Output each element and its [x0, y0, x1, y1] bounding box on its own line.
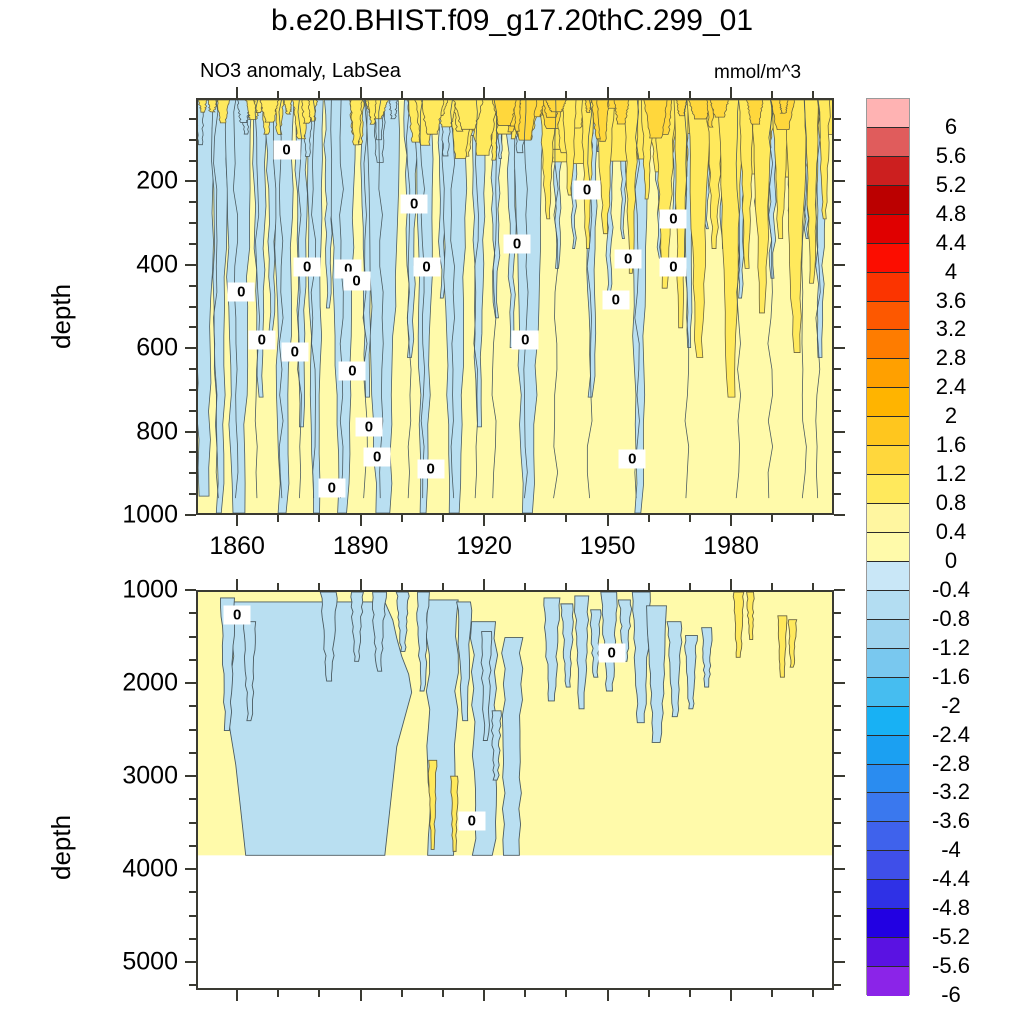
x-axis-tick-minor	[401, 583, 403, 590]
x-axis-tick-major	[483, 579, 485, 590]
colorbar-tick-label: -2.4	[912, 722, 990, 748]
x-axis-tick-major	[360, 87, 362, 98]
colorbar-tick-label: 0	[912, 548, 990, 574]
y-axis-tick-minor	[189, 891, 196, 893]
colorbar-cell	[867, 504, 909, 533]
x-axis-tick-minor	[277, 91, 279, 98]
colorbar-cell	[867, 157, 909, 186]
x-axis-tick-minor	[689, 583, 691, 590]
y-axis-tick-label: 3000	[86, 762, 178, 791]
y-axis-tick-minor	[834, 472, 841, 474]
colorbar-cell	[867, 707, 909, 736]
y-axis-tick-minor	[834, 389, 841, 391]
x-axis-tick-major	[360, 990, 362, 1001]
x-axis-tick-minor	[401, 91, 403, 98]
colorbar-tick-label: -1.2	[912, 635, 990, 661]
y-axis-tick-label: 600	[86, 334, 178, 363]
colorbar-cell	[867, 938, 909, 967]
colorbar-cell	[867, 678, 909, 707]
colorbar-cell	[867, 591, 909, 620]
y-axis-tick-minor	[834, 984, 841, 986]
y-axis-tick-minor	[189, 636, 196, 638]
y-axis-tick-major	[185, 347, 196, 349]
y-axis-tick-major	[185, 431, 196, 433]
y-axis-tick-minor	[189, 118, 196, 120]
y-axis-tick-minor	[834, 326, 841, 328]
y-axis-tick-minor	[834, 118, 841, 120]
y-axis-tick-minor	[834, 410, 841, 412]
x-axis-tick-minor	[565, 990, 567, 997]
y-axis-tick-minor	[189, 729, 196, 731]
y-axis-tick-minor	[189, 984, 196, 986]
x-axis-tick-major	[607, 990, 609, 1001]
y-axis-tick-minor	[834, 636, 841, 638]
x-axis-tick-major	[483, 515, 485, 526]
contour-label: 0	[512, 330, 539, 349]
y-axis-tick-label: 2000	[86, 669, 178, 698]
colorbar-tick-label: 4.8	[912, 201, 990, 227]
y-axis-tick-label: 800	[86, 417, 178, 446]
colorbar-cell	[867, 128, 909, 157]
x-axis-tick-label: 1920	[424, 532, 544, 561]
x-axis-tick-minor	[812, 990, 814, 997]
y-axis-tick-minor	[834, 201, 841, 203]
x-axis-tick-minor	[771, 515, 773, 522]
y-axis-tick-minor	[189, 845, 196, 847]
contour-label: 0	[602, 291, 629, 310]
colorbar-cell	[867, 330, 909, 359]
colorbar-tick-label: -0.4	[912, 577, 990, 603]
contour-label: 0	[619, 449, 646, 468]
y-axis-tick-minor	[189, 705, 196, 707]
x-axis-tick-minor	[442, 515, 444, 522]
colorbar-tick-label: 1.6	[912, 432, 990, 458]
contour-label: 0	[224, 606, 251, 625]
y-axis-tick-major	[185, 775, 196, 777]
contour-label: 0	[598, 644, 625, 663]
y-axis-tick-major	[185, 961, 196, 963]
y-axis-tick-minor	[189, 368, 196, 370]
y-axis-tick-minor	[834, 222, 841, 224]
x-axis-tick-major	[730, 87, 732, 98]
colorbar-cell	[867, 475, 909, 504]
y-axis-tick-minor	[834, 752, 841, 754]
colorbar-tick-label: 5.2	[912, 172, 990, 198]
contour-label: 0	[504, 234, 531, 253]
x-axis-tick-minor	[318, 91, 320, 98]
x-axis-tick-minor	[318, 583, 320, 590]
y-axis-tick-label: 200	[86, 167, 178, 196]
colorbar-tick-label: 2	[912, 403, 990, 429]
x-axis-tick-major	[360, 515, 362, 526]
colorbar-cell	[867, 417, 909, 446]
y-axis-tick-minor	[834, 845, 841, 847]
y-axis-tick-minor	[834, 243, 841, 245]
y-axis-tick-minor	[189, 139, 196, 141]
colorbar-cell	[867, 765, 909, 794]
contour-label: 0	[339, 362, 366, 381]
x-axis-tick-label: 1860	[177, 532, 297, 561]
x-axis-tick-minor	[812, 91, 814, 98]
colorbar-cell	[867, 99, 909, 128]
colorbar-tick-label: -4.8	[912, 895, 990, 921]
colorbar-cell	[867, 302, 909, 331]
colorbar-tick-label: -4.4	[912, 866, 990, 892]
colorbar-tick-label: 4.4	[912, 230, 990, 256]
colorbar-cell	[867, 967, 909, 996]
y-axis-tick-major	[185, 868, 196, 870]
contour-label: 0	[318, 478, 345, 497]
y-axis-tick-major	[185, 682, 196, 684]
colorbar-tick-label: -2	[912, 693, 990, 719]
y-axis-tick-minor	[189, 410, 196, 412]
contour-label: 0	[574, 180, 601, 199]
x-axis-tick-minor	[277, 990, 279, 997]
y-axis-tick-minor	[189, 798, 196, 800]
x-axis-tick-major	[483, 990, 485, 1001]
colorbar-tick-label: 3.2	[912, 316, 990, 342]
y-axis-tick-minor	[189, 326, 196, 328]
colorbar-cell	[867, 793, 909, 822]
colorbar-tick-label: 6	[912, 114, 990, 140]
plot-units-label: mmol/m^3	[714, 62, 801, 84]
x-axis-tick-major	[236, 87, 238, 98]
y-axis-tick-minor	[834, 659, 841, 661]
x-axis-tick-minor	[277, 583, 279, 590]
colorbar-tick-label: 2.8	[912, 345, 990, 371]
x-axis-tick-label: 1950	[548, 532, 668, 561]
colorbar-cell	[867, 909, 909, 938]
y-axis-tick-minor	[834, 285, 841, 287]
contour-label: 0	[355, 418, 382, 437]
x-axis-tick-minor	[689, 990, 691, 997]
x-axis-tick-minor	[277, 515, 279, 522]
y-axis-tick-minor	[189, 915, 196, 917]
y-axis-tick-major	[834, 431, 845, 433]
colorbar-cell	[867, 822, 909, 851]
colorbar-tick-label: 0.4	[912, 519, 990, 545]
y-axis-tick-minor	[189, 160, 196, 162]
y-axis-tick-major	[834, 775, 845, 777]
y-axis-tick-minor	[834, 938, 841, 940]
x-axis-tick-major	[730, 579, 732, 590]
y-axis-tick-minor	[189, 493, 196, 495]
contour-label: 0	[248, 330, 275, 349]
contour-label: 0	[364, 447, 391, 466]
contour-label: 0	[273, 141, 300, 160]
y-axis-tick-minor	[189, 243, 196, 245]
colorbar-cell	[867, 562, 909, 591]
contour-label: 0	[417, 460, 444, 479]
contour-label: 0	[228, 282, 255, 301]
y-axis-tick-minor	[834, 306, 841, 308]
y-axis-tick-label: 4000	[86, 855, 178, 884]
x-axis-tick-minor	[565, 91, 567, 98]
y-axis-tick-minor	[189, 822, 196, 824]
page-title: b.e20.BHIST.f09_g17.20thC.299_01	[0, 4, 1024, 38]
colorbar-cell	[867, 388, 909, 417]
colorbar-cell	[867, 620, 909, 649]
y-axis-tick-minor	[189, 659, 196, 661]
y-axis-tick-major	[185, 180, 196, 182]
x-axis-tick-minor	[648, 583, 650, 590]
contour-label: 0	[660, 209, 687, 228]
x-axis-tick-minor	[812, 583, 814, 590]
colorbar-cell	[867, 446, 909, 475]
y-axis-tick-label: 5000	[86, 948, 178, 977]
contour-label: 0	[615, 249, 642, 268]
colorbar-cell	[867, 359, 909, 388]
y-axis-tick-label: 400	[86, 250, 178, 279]
y-axis-tick-major	[834, 264, 845, 266]
contour-region	[502, 638, 523, 856]
y-axis-tick-minor	[834, 729, 841, 731]
colorbar-tick-label: -3.6	[912, 808, 990, 834]
contour-label: 0	[660, 257, 687, 276]
colorbar-cell	[867, 649, 909, 678]
y-axis-tick-minor	[834, 915, 841, 917]
upper-panel-contours	[198, 100, 832, 513]
x-axis-tick-minor	[689, 91, 691, 98]
y-axis-tick-minor	[189, 472, 196, 474]
colorbar-tick-label: 1.2	[912, 461, 990, 487]
colorbar-tick-label: 0.8	[912, 490, 990, 516]
colorbar	[866, 98, 910, 995]
y-axis-tick-major	[834, 180, 845, 182]
x-axis-tick-major	[607, 515, 609, 526]
x-axis-tick-major	[607, 87, 609, 98]
y-axis-tick-minor	[834, 451, 841, 453]
x-axis-tick-minor	[771, 990, 773, 997]
y-axis-tick-minor	[834, 798, 841, 800]
x-axis-tick-major	[730, 990, 732, 1001]
upper-contour-panel	[196, 98, 834, 515]
colorbar-tick-label: 3.6	[912, 288, 990, 314]
x-axis-tick-minor	[771, 91, 773, 98]
x-axis-tick-minor	[401, 515, 403, 522]
x-axis-tick-major	[236, 990, 238, 1001]
y-axis-tick-minor	[189, 306, 196, 308]
colorbar-tick-label: 2.4	[912, 374, 990, 400]
x-axis-tick-minor	[318, 990, 320, 997]
x-axis-tick-major	[730, 515, 732, 526]
colorbar-cell	[867, 880, 909, 909]
y-axis-tick-label: 1000	[86, 576, 178, 605]
colorbar-cell	[867, 273, 909, 302]
y-axis-tick-minor	[834, 891, 841, 893]
y-axis-tick-major	[834, 514, 845, 516]
x-axis-tick-minor	[565, 583, 567, 590]
y-axis-tick-major	[185, 514, 196, 516]
x-axis-tick-minor	[689, 515, 691, 522]
x-axis-tick-minor	[524, 515, 526, 522]
y-axis-tick-minor	[189, 752, 196, 754]
x-axis-tick-minor	[771, 583, 773, 590]
contour-label: 0	[343, 272, 370, 291]
y-axis-tick-minor	[189, 389, 196, 391]
colorbar-tick-label: -5.2	[912, 924, 990, 950]
y-axis-tick-major	[834, 682, 845, 684]
y-axis-tick-minor	[189, 222, 196, 224]
contour-label: 0	[413, 257, 440, 276]
colorbar-tick-label: -2.8	[912, 751, 990, 777]
x-axis-tick-major	[483, 87, 485, 98]
x-axis-tick-minor	[442, 990, 444, 997]
colorbar-cell	[867, 851, 909, 880]
lower-panel-contours	[198, 592, 832, 988]
y-axis-tick-major	[834, 868, 845, 870]
y-axis-tick-major	[834, 589, 845, 591]
x-axis-tick-major	[236, 515, 238, 526]
y-axis-tick-minor	[189, 612, 196, 614]
colorbar-cell	[867, 186, 909, 215]
lower-contour-panel	[196, 590, 834, 990]
y-axis-tick-minor	[189, 285, 196, 287]
colorbar-tick-label: -1.6	[912, 664, 990, 690]
x-axis-tick-minor	[524, 583, 526, 590]
x-axis-tick-minor	[565, 515, 567, 522]
contour-label: 0	[401, 195, 428, 214]
y-axis-title-upper: depth	[46, 283, 77, 348]
contour-label: 0	[294, 257, 321, 276]
colorbar-cell	[867, 736, 909, 765]
y-axis-tick-major	[834, 347, 845, 349]
colorbar-tick-label: -3.2	[912, 779, 990, 805]
x-axis-tick-minor	[648, 990, 650, 997]
x-axis-tick-minor	[524, 91, 526, 98]
x-axis-tick-label: 1980	[671, 532, 791, 561]
colorbar-cell	[867, 244, 909, 273]
y-axis-title-lower: depth	[46, 815, 77, 880]
y-axis-tick-minor	[834, 160, 841, 162]
y-axis-tick-minor	[834, 822, 841, 824]
colorbar-tick-label: -4	[912, 837, 990, 863]
x-axis-tick-minor	[318, 515, 320, 522]
colorbar-cell	[867, 215, 909, 244]
colorbar-tick-label: 5.6	[912, 143, 990, 169]
y-axis-tick-label: 1000	[86, 501, 178, 530]
y-axis-tick-minor	[834, 612, 841, 614]
contour-label: 0	[281, 343, 308, 362]
x-axis-tick-major	[360, 579, 362, 590]
x-axis-tick-major	[607, 579, 609, 590]
x-axis-tick-major	[236, 579, 238, 590]
colorbar-tick-label: -6	[912, 982, 990, 1008]
contour-label: 0	[458, 811, 485, 830]
plot-subtitle-left: NO3 anomaly, LabSea	[200, 60, 401, 83]
x-axis-tick-minor	[648, 91, 650, 98]
x-axis-tick-minor	[401, 990, 403, 997]
x-axis-tick-minor	[524, 990, 526, 997]
colorbar-tick-label: 4	[912, 259, 990, 285]
y-axis-tick-minor	[834, 368, 841, 370]
x-axis-tick-minor	[442, 583, 444, 590]
y-axis-tick-major	[834, 961, 845, 963]
colorbar-tick-label: -0.8	[912, 606, 990, 632]
y-axis-tick-minor	[189, 938, 196, 940]
x-axis-tick-minor	[442, 91, 444, 98]
colorbar-cell	[867, 533, 909, 562]
y-axis-tick-minor	[834, 705, 841, 707]
x-axis-tick-minor	[648, 515, 650, 522]
y-axis-tick-major	[185, 589, 196, 591]
x-axis-tick-label: 1890	[301, 532, 421, 561]
y-axis-tick-major	[185, 264, 196, 266]
colorbar-tick-label: -5.6	[912, 953, 990, 979]
y-axis-tick-minor	[189, 451, 196, 453]
y-axis-tick-minor	[189, 201, 196, 203]
x-axis-tick-minor	[812, 515, 814, 522]
y-axis-tick-minor	[834, 139, 841, 141]
y-axis-tick-minor	[834, 493, 841, 495]
